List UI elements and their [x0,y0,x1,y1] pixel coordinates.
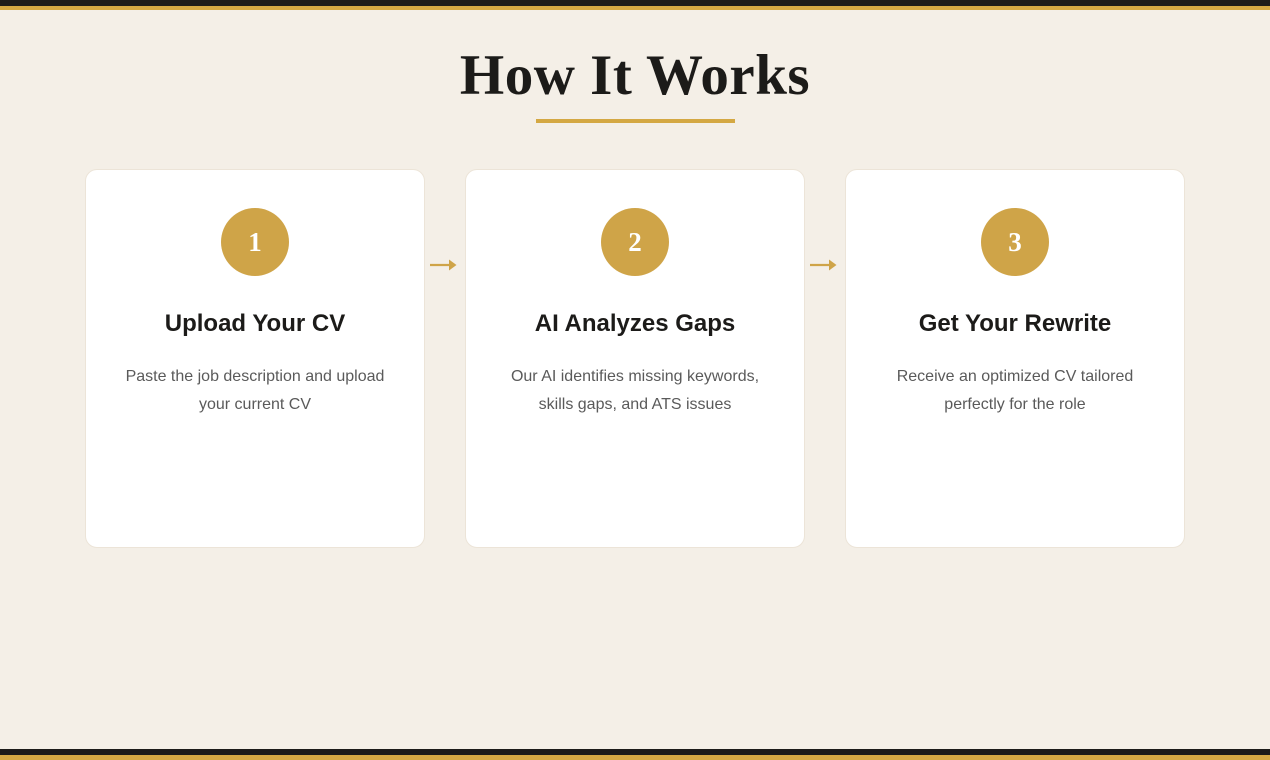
step-description-2: Our AI identifies missing keywords, skil… [495,363,775,419]
step-title-3: Get Your Rewrite [872,310,1158,339]
step-title-2: AI Analyzes Gaps [492,310,778,339]
step-number-badge-1: 1 [221,208,289,276]
arrow-right-icon [425,169,465,548]
title-underline [536,119,735,123]
top-gold-bar [0,6,1270,10]
step-number-badge-2: 2 [601,208,669,276]
step-title-1: Upload Your CV [112,310,398,339]
how-it-works-steps: 1 Upload Your CV Paste the job descripti… [85,169,1185,548]
step-card-1[interactable]: 1 Upload Your CV Paste the job descripti… [85,169,425,548]
step-description-1: Paste the job description and upload you… [115,363,395,419]
step-card-2[interactable]: 2 AI Analyzes Gaps Our AI identifies mis… [465,169,805,548]
step-number-badge-3: 3 [981,208,1049,276]
step-description-3: Receive an optimized CV tailored perfect… [875,363,1155,419]
step-card-3[interactable]: 3 Get Your Rewrite Receive an optimized … [845,169,1185,548]
section-header: How It Works [0,46,1270,123]
arrow-right-icon [805,169,845,548]
bottom-gold-bar [0,755,1270,760]
page-title: How It Works [0,46,1270,106]
